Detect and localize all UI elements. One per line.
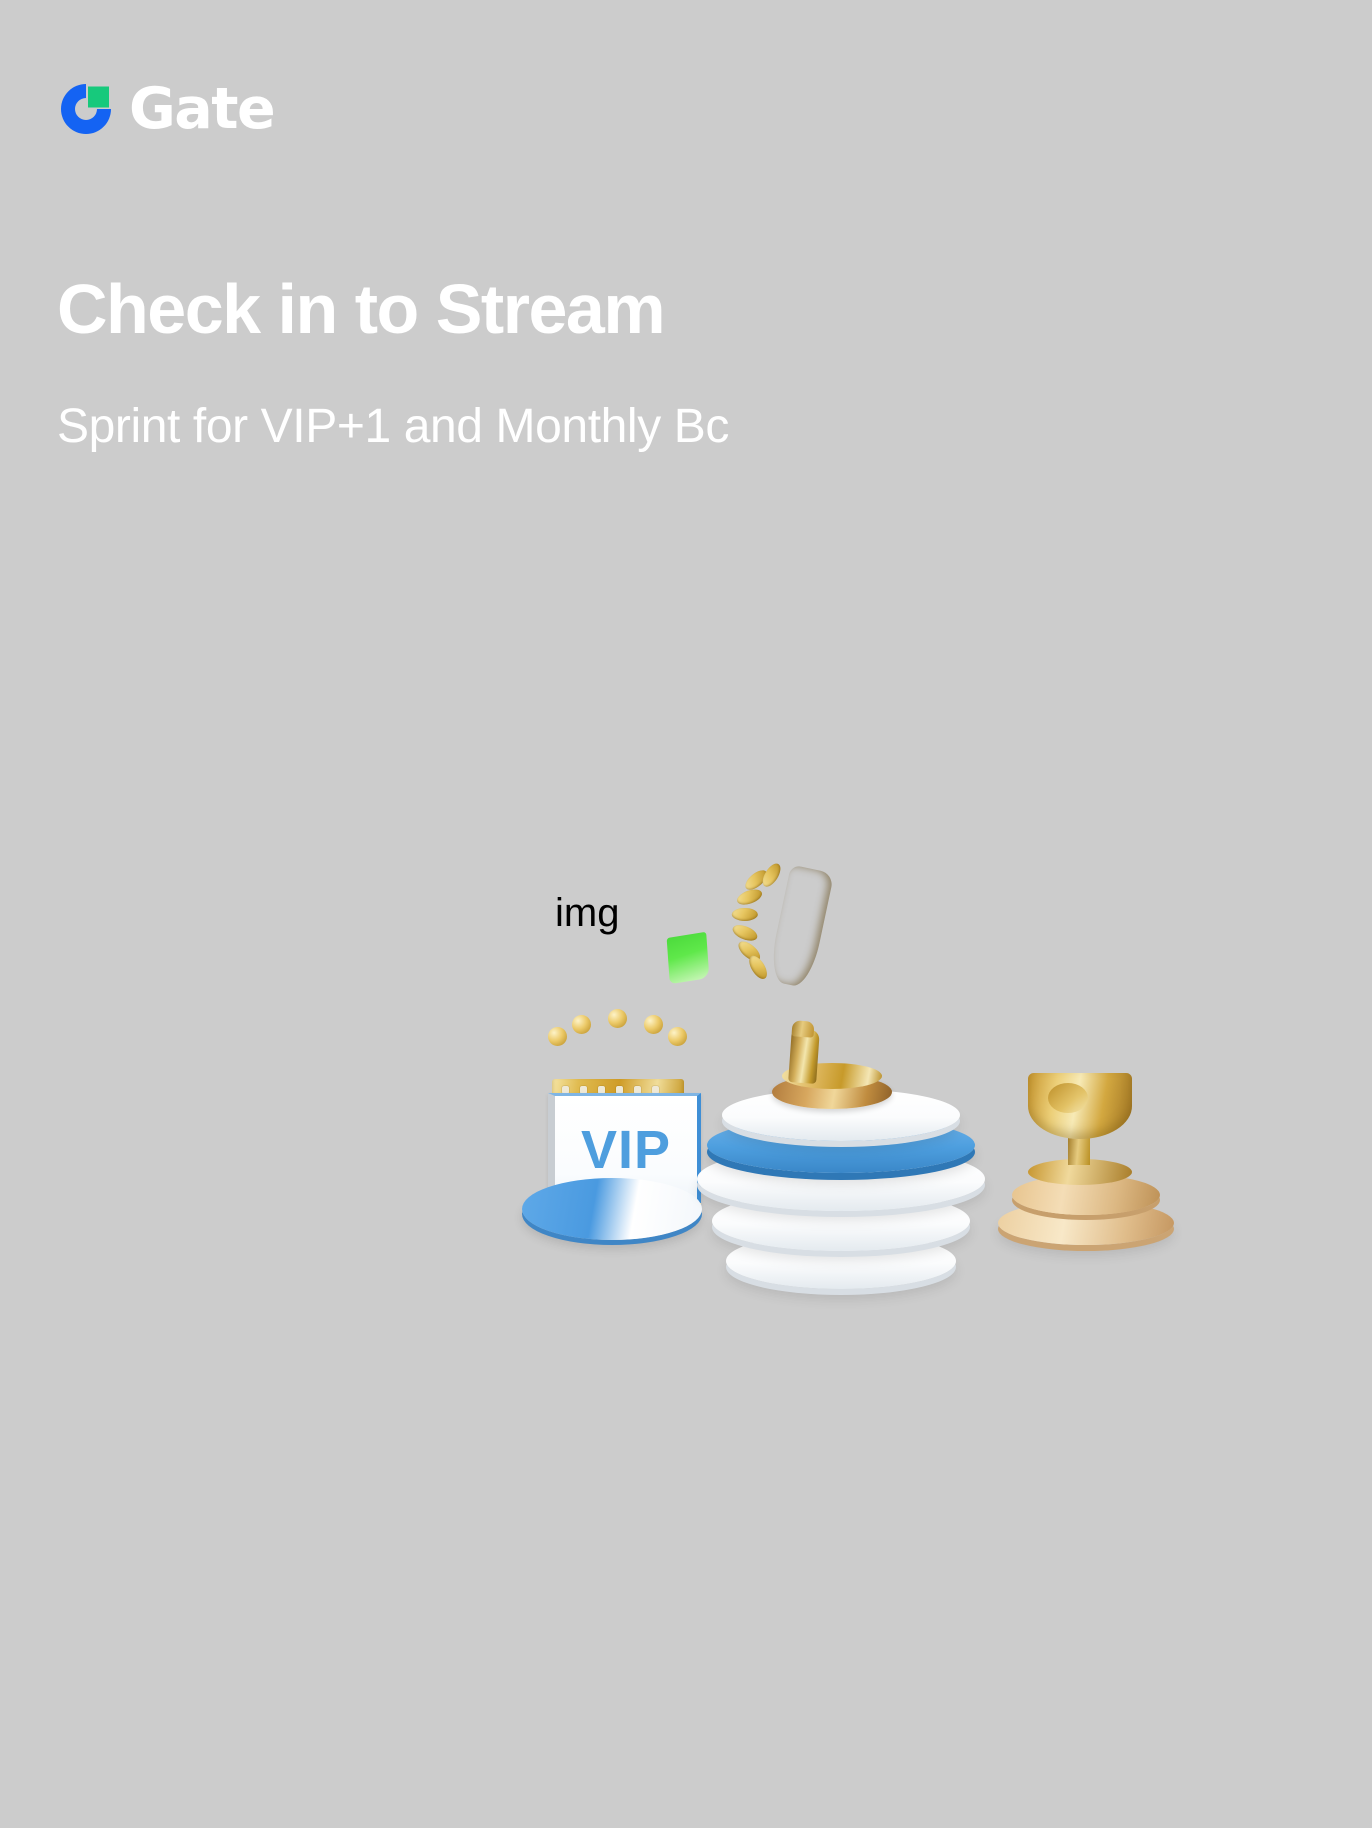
reward-illustration: img VIP <box>500 845 1372 1315</box>
page-subtitle: Sprint for VIP+1 and Monthly Bc <box>57 398 1337 456</box>
crown-icon <box>542 1009 694 1105</box>
trophy-icon <box>768 1023 896 1109</box>
gate-logo[interactable]: Gate <box>57 78 274 140</box>
hero-section: Check in to Stream Sprint for VIP+1 and … <box>57 270 1337 456</box>
vip-card-label: VIP <box>581 1123 671 1177</box>
laurel-trophy-icon <box>720 855 854 1000</box>
gate-logo-mark <box>57 80 115 138</box>
broken-image-alt-text: img <box>555 893 619 933</box>
cup-icon <box>1008 1073 1168 1263</box>
podium-left-plate <box>522 1178 702 1240</box>
page-title: Check in to Stream <box>57 270 1337 348</box>
gate-wordmark: Gate <box>129 81 274 138</box>
confetti-icon <box>667 932 710 984</box>
podium-stack <box>676 1095 1006 1295</box>
